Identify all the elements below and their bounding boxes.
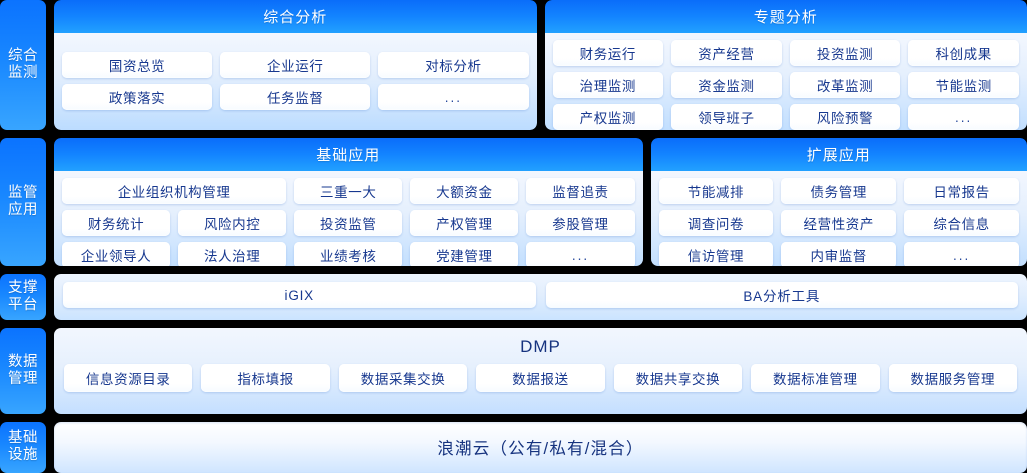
app-button-caiwuyunxing[interactable]: 财务运行 bbox=[553, 40, 664, 66]
button-grid: 财务运行 资产经营 投资监测 科创成果 治理监测 资金监测 改革监测 节能监测 … bbox=[553, 40, 1020, 130]
panel-title-basic-applications: 基础应用 bbox=[54, 138, 643, 171]
panel-title-dmp: DMP bbox=[64, 334, 1017, 359]
app-button-shujubiaozhunguanli[interactable]: 数据标准管理 bbox=[751, 364, 879, 392]
panel-title-thematic-analysis: 专题分析 bbox=[545, 0, 1027, 33]
app-button-sanzhongyida[interactable]: 三重一大 bbox=[294, 178, 402, 204]
app-button-gaigejiance[interactable]: 改革监测 bbox=[790, 72, 901, 98]
app-button-qiyeyunxing[interactable]: 企业运行 bbox=[220, 52, 370, 78]
app-button-touzijianguan[interactable]: 投资监管 bbox=[294, 210, 402, 236]
app-button-guozizonglan[interactable]: 国资总览 bbox=[62, 52, 212, 78]
app-button-zhaiwuguanli[interactable]: 债务管理 bbox=[781, 178, 896, 204]
category-label-comprehensive-monitoring: 综合 监测 bbox=[0, 0, 46, 130]
category-line-1: 监管 bbox=[8, 185, 38, 202]
app-button-zhilijiance[interactable]: 治理监测 bbox=[553, 72, 664, 98]
category-label-infrastructure: 基础 设施 bbox=[0, 422, 46, 473]
app-button-xinxiziyuanmulu[interactable]: 信息资源目录 bbox=[64, 364, 192, 392]
panel-body-thematic-analysis: 财务运行 资产经营 投资监测 科创成果 治理监测 资金监测 改革监测 节能监测 … bbox=[545, 33, 1027, 130]
category-label-support-platform: 支撑 平台 bbox=[0, 274, 46, 320]
button-grid: 国资总览 企业运行 对标分析 政策落实 任务监督 ... bbox=[62, 52, 529, 110]
app-button-chanquanjiance[interactable]: 产权监测 bbox=[553, 104, 664, 130]
app-button-xinfangguanli[interactable]: 信访管理 bbox=[659, 242, 774, 266]
category-line-2: 设施 bbox=[8, 447, 38, 464]
app-button-jienengjianpai[interactable]: 节能减排 bbox=[659, 178, 774, 204]
app-button-touzijiance[interactable]: 投资监测 bbox=[790, 40, 901, 66]
app-button-duibiaofenxi[interactable]: 对标分析 bbox=[378, 52, 528, 78]
category-line-1: 基础 bbox=[8, 430, 38, 447]
panel-body-extended-applications: 节能减排 债务管理 日常报告 调查问卷 经营性资产 综合信息 信访管理 内审监督… bbox=[651, 171, 1027, 266]
button-grid: 信息资源目录 指标填报 数据采集交换 数据报送 数据共享交换 数据标准管理 数据… bbox=[64, 364, 1017, 392]
panel-body-basic-applications: 企业组织机构管理 三重一大 大额资金 监督追责 财务统计 风险内控 投资监管 产… bbox=[54, 171, 643, 266]
app-button-cangguguanli[interactable]: 参股管理 bbox=[526, 210, 634, 236]
category-line-1: 综合 bbox=[8, 48, 38, 65]
section-infrastructure: 基础 设施 浪潮云（公有/私有/混合） bbox=[0, 422, 1027, 473]
section-support-platform: 支撑 平台 iGIX BA分析工具 bbox=[0, 274, 1027, 320]
app-button-fengxianneikong[interactable]: 风险内控 bbox=[178, 210, 286, 236]
section-content: 基础应用 企业组织机构管理 三重一大 大额资金 监督追责 财务统计 风险内控 投… bbox=[54, 138, 1027, 266]
app-button-ba-analysis-tool[interactable]: BA分析工具 bbox=[546, 282, 1019, 308]
panel-title-extended-applications: 扩展应用 bbox=[651, 138, 1027, 171]
panel-extended-applications: 扩展应用 节能减排 债务管理 日常报告 调查问卷 经营性资产 综合信息 信访管理… bbox=[651, 138, 1027, 266]
app-button-zongheinformation[interactable]: 综合信息 bbox=[904, 210, 1019, 236]
section-content: 综合分析 国资总览 企业运行 对标分析 政策落实 任务监督 ... 专题分析 bbox=[54, 0, 1027, 130]
section-data-management: 数据 管理 DMP 信息资源目录 指标填报 数据采集交换 数据报送 数据共享交换… bbox=[0, 328, 1027, 413]
category-line-2: 应用 bbox=[8, 202, 38, 219]
app-button-dangjianguanli[interactable]: 党建管理 bbox=[410, 242, 518, 266]
panel-basic-applications: 基础应用 企业组织机构管理 三重一大 大额资金 监督追责 财务统计 风险内控 投… bbox=[54, 138, 643, 266]
app-button-qiyezuzhijigouguanli[interactable]: 企业组织机构管理 bbox=[62, 178, 286, 204]
app-button-diaochawenjuan[interactable]: 调查问卷 bbox=[659, 210, 774, 236]
architecture-diagram: 综合 监测 综合分析 国资总览 企业运行 对标分析 政策落实 任务监督 ... bbox=[0, 0, 1027, 473]
app-button-lingdaobanzi[interactable]: 领导班子 bbox=[671, 104, 782, 130]
app-button-kechuangchengguo[interactable]: 科创成果 bbox=[908, 40, 1019, 66]
category-line-2: 监测 bbox=[8, 65, 38, 82]
app-button-jienengjiance[interactable]: 节能监测 bbox=[908, 72, 1019, 98]
app-button-qiyelingdaoren[interactable]: 企业领导人 bbox=[62, 242, 170, 266]
panel-comprehensive-analysis: 综合分析 国资总览 企业运行 对标分析 政策落实 任务监督 ... bbox=[54, 0, 537, 130]
app-button-more[interactable]: ... bbox=[904, 242, 1019, 266]
app-button-jingyingxingzichan[interactable]: 经营性资产 bbox=[781, 210, 896, 236]
button-grid: 节能减排 债务管理 日常报告 调查问卷 经营性资产 综合信息 信访管理 内审监督… bbox=[659, 178, 1019, 266]
panel-data-management: DMP 信息资源目录 指标填报 数据采集交换 数据报送 数据共享交换 数据标准管… bbox=[54, 328, 1027, 413]
app-button-shujufuwuguanli[interactable]: 数据服务管理 bbox=[889, 364, 1017, 392]
app-button-shujugongxiangjiaohuan[interactable]: 数据共享交换 bbox=[614, 364, 742, 392]
section-regulatory-applications: 监管 应用 基础应用 企业组织机构管理 三重一大 大额资金 监督追责 财务统计 … bbox=[0, 138, 1027, 266]
category-line-1: 数据 bbox=[8, 354, 38, 371]
panel-title-comprehensive-analysis: 综合分析 bbox=[54, 0, 537, 33]
app-button-shujucaijijiaohuan[interactable]: 数据采集交换 bbox=[339, 364, 467, 392]
category-label-regulatory-applications: 监管 应用 bbox=[0, 138, 46, 266]
app-button-caiwutongji[interactable]: 财务统计 bbox=[62, 210, 170, 236]
app-button-yejikaohe[interactable]: 业绩考核 bbox=[294, 242, 402, 266]
infrastructure-label[interactable]: 浪潮云（公有/私有/混合） bbox=[54, 422, 1027, 473]
app-button-more[interactable]: ... bbox=[526, 242, 634, 266]
app-button-zhibiaotianbao[interactable]: 指标填报 bbox=[201, 364, 329, 392]
app-button-farenzhili[interactable]: 法人治理 bbox=[178, 242, 286, 266]
panel-thematic-analysis: 专题分析 财务运行 资产经营 投资监测 科创成果 治理监测 资金监测 改革监测 … bbox=[545, 0, 1027, 130]
app-button-fengxianyujing[interactable]: 风险预警 bbox=[790, 104, 901, 130]
app-button-zijinjiance[interactable]: 资金监测 bbox=[671, 72, 782, 98]
panel-body-comprehensive-analysis: 国资总览 企业运行 对标分析 政策落实 任务监督 ... bbox=[54, 33, 537, 130]
category-line-1: 支撑 bbox=[8, 280, 38, 297]
app-button-igix[interactable]: iGIX bbox=[63, 282, 536, 308]
section-comprehensive-monitoring: 综合 监测 综合分析 国资总览 企业运行 对标分析 政策落实 任务监督 ... bbox=[0, 0, 1027, 130]
panel-support-platform: iGIX BA分析工具 bbox=[54, 274, 1027, 320]
app-button-renwujiandu[interactable]: 任务监督 bbox=[220, 84, 370, 110]
app-button-neishenjiandu[interactable]: 内审监督 bbox=[781, 242, 896, 266]
category-line-2: 管理 bbox=[8, 371, 38, 388]
category-label-data-management: 数据 管理 bbox=[0, 328, 46, 413]
category-line-2: 平台 bbox=[8, 297, 38, 314]
app-button-jianduzhuize[interactable]: 监督追责 bbox=[526, 178, 634, 204]
app-button-shujubaosong[interactable]: 数据报送 bbox=[476, 364, 604, 392]
app-button-zhengceluoshi[interactable]: 政策落实 bbox=[62, 84, 212, 110]
app-button-richangbaogao[interactable]: 日常报告 bbox=[904, 178, 1019, 204]
app-button-zichanjingying[interactable]: 资产经营 bbox=[671, 40, 782, 66]
button-grid: 企业组织机构管理 三重一大 大额资金 监督追责 财务统计 风险内控 投资监管 产… bbox=[62, 178, 635, 266]
app-button-more[interactable]: ... bbox=[908, 104, 1019, 130]
app-button-chanquanguanli[interactable]: 产权管理 bbox=[410, 210, 518, 236]
app-button-more[interactable]: ... bbox=[378, 84, 528, 110]
app-button-daezijin[interactable]: 大额资金 bbox=[410, 178, 518, 204]
